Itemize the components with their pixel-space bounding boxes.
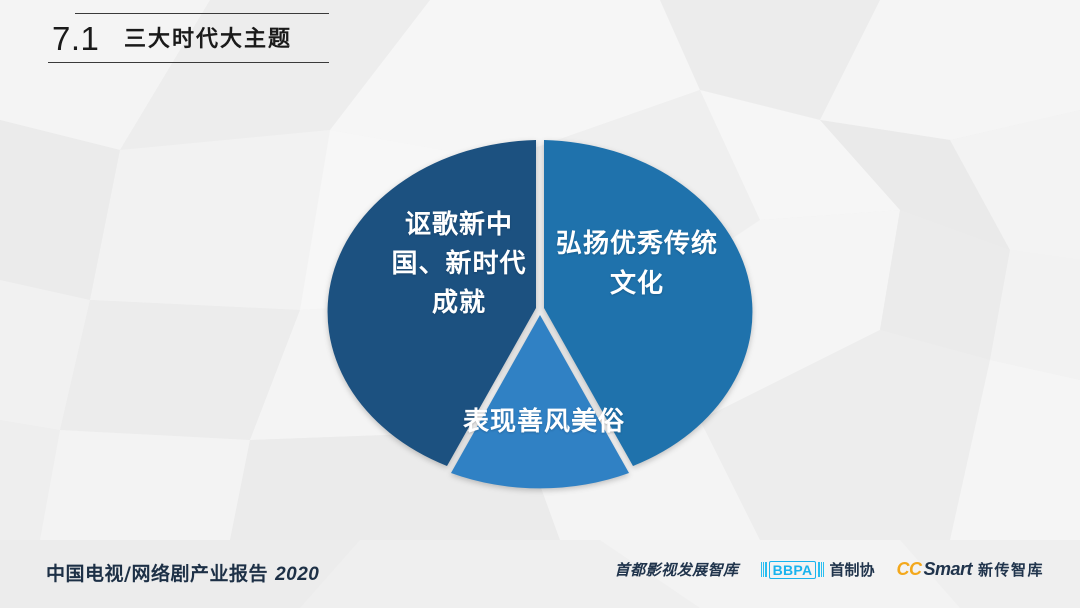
bbpa-left-bars-icon [761,562,767,577]
footer-report-name: 中国电视/网络剧产业报告 [46,563,268,585]
footer-report-title: 中国电视/网络剧产业报告 2020 [46,559,319,586]
ccsmart-name-label: 新传智库 [978,559,1044,580]
ccsmart-cc-mark: CC [896,559,921,580]
slide-canvas: 7.1 三大时代大主题 讴歌新中国、新时代成就 弘扬优秀传统文化 表现善风美俗 … [0,0,1080,608]
ccsmart-smart-mark: Smart [923,559,972,580]
slide-footer: 中国电视/网络剧产业报告 2020 首都影视发展智库 BBPA 首制协 CC S… [0,540,1080,608]
slide-header: 7.1 三大时代大主题 [0,0,1080,70]
footer-logo-group: 首都影视发展智库 BBPA 首制协 CC Smart 新传智库 [615,559,1044,580]
bbpa-right-bars-icon [818,562,824,577]
bbpa-box-label: BBPA [769,561,817,579]
header-rule-top [75,13,329,14]
logo-shoudu-think-tank: 首都影视发展智库 [615,559,739,580]
section-number: 7.1 [52,19,99,59]
header-rule-bottom [48,62,329,63]
bbpa-name-label: 首制协 [829,559,874,580]
logo-ccsmart: CC Smart 新传智库 [896,559,1044,580]
page-title: 三大时代大主题 [124,24,292,56]
bbpa-mark-icon: BBPA [761,561,825,579]
pie-chart-svg [317,136,763,493]
pie-diagram: 讴歌新中国、新时代成就 弘扬优秀传统文化 表现善风美俗 [317,136,763,493]
footer-report-year: 2020 [275,564,319,585]
logo-bbpa: BBPA 首制协 [761,559,875,580]
